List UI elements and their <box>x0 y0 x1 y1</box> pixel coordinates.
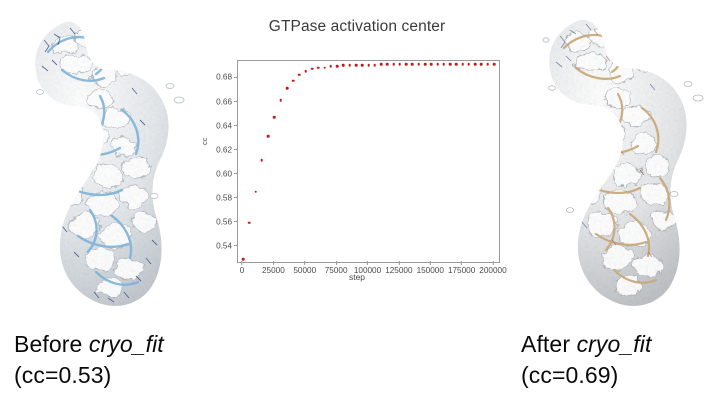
data-point <box>367 64 370 67</box>
caption-before-italic: cryo_fit <box>89 331 164 357</box>
data-point <box>405 63 408 66</box>
y-tick-label: 0.68 <box>202 73 237 82</box>
x-tick-label: 125000 <box>385 261 412 275</box>
data-point <box>493 63 496 66</box>
y-tick-label: 0.66 <box>202 97 237 106</box>
data-point <box>386 63 389 66</box>
data-point <box>261 159 264 162</box>
caption-after-italic: cryo_fit <box>577 331 652 357</box>
caption-before: Before cryo_fit (cc=0.53) <box>14 329 164 391</box>
caption-before-cc: (cc=0.53) <box>14 360 164 391</box>
data-point <box>430 63 433 66</box>
data-point <box>292 80 295 83</box>
cryo-em-density-after-svg <box>520 0 720 320</box>
x-tick-label: 200000 <box>479 261 506 275</box>
data-point <box>474 63 477 66</box>
y-tick-label: 0.64 <box>202 121 237 130</box>
data-point <box>486 63 489 66</box>
data-point <box>392 63 395 66</box>
data-point <box>411 63 414 66</box>
chart-title: GTPase activation center <box>202 18 512 36</box>
data-point <box>323 66 326 69</box>
x-tick-label: 75000 <box>325 261 348 275</box>
data-point <box>449 63 452 66</box>
data-point <box>417 63 420 66</box>
x-tick-label: 50000 <box>293 261 316 275</box>
y-tick-label: 0.60 <box>202 169 237 178</box>
y-tick-label: 0.54 <box>202 241 237 250</box>
data-point <box>267 135 270 138</box>
data-point <box>461 63 464 66</box>
data-point <box>279 99 282 102</box>
molecule-image-before <box>4 0 204 320</box>
y-tick-label: 0.58 <box>202 193 237 202</box>
x-tick-label: 150000 <box>417 261 444 275</box>
data-point <box>455 63 458 66</box>
data-point <box>342 64 345 67</box>
data-point <box>355 64 358 67</box>
data-point <box>286 87 289 90</box>
data-point <box>424 63 427 66</box>
x-tick-label: 175000 <box>448 261 475 275</box>
plot-area <box>237 60 500 263</box>
data-point <box>248 222 251 225</box>
data-point <box>380 63 383 66</box>
data-point <box>311 68 314 71</box>
caption-after-prefix: After <box>521 331 577 357</box>
molecule-image-after <box>520 0 720 320</box>
cryo-em-density-before-svg <box>4 0 204 320</box>
y-axis-label: cc <box>200 138 209 146</box>
data-point <box>336 65 339 68</box>
caption-after: After cryo_fit (cc=0.69) <box>521 329 652 391</box>
caption-before-prefix: Before <box>14 331 89 357</box>
data-point <box>442 63 445 66</box>
x-tick-label: 0 <box>240 261 245 275</box>
data-point <box>330 65 333 68</box>
data-point <box>348 64 351 67</box>
x-tick-label: 25000 <box>262 261 285 275</box>
data-point <box>361 64 364 67</box>
caption-after-cc: (cc=0.69) <box>521 360 652 391</box>
data-point <box>480 63 483 66</box>
y-tick-label: 0.56 <box>202 217 237 226</box>
data-point <box>468 63 471 66</box>
y-tick-label: 0.62 <box>202 145 237 154</box>
data-point <box>254 190 257 193</box>
data-point <box>399 63 402 66</box>
cc-vs-step-chart: GTPase activation center cc step 0.540.5… <box>202 10 512 300</box>
data-point <box>273 116 276 119</box>
data-point <box>436 63 439 66</box>
x-tick-label: 100000 <box>354 261 381 275</box>
data-point <box>298 74 301 77</box>
data-point <box>242 258 245 261</box>
data-point <box>373 64 376 67</box>
data-point <box>304 70 307 73</box>
data-point <box>317 66 320 69</box>
